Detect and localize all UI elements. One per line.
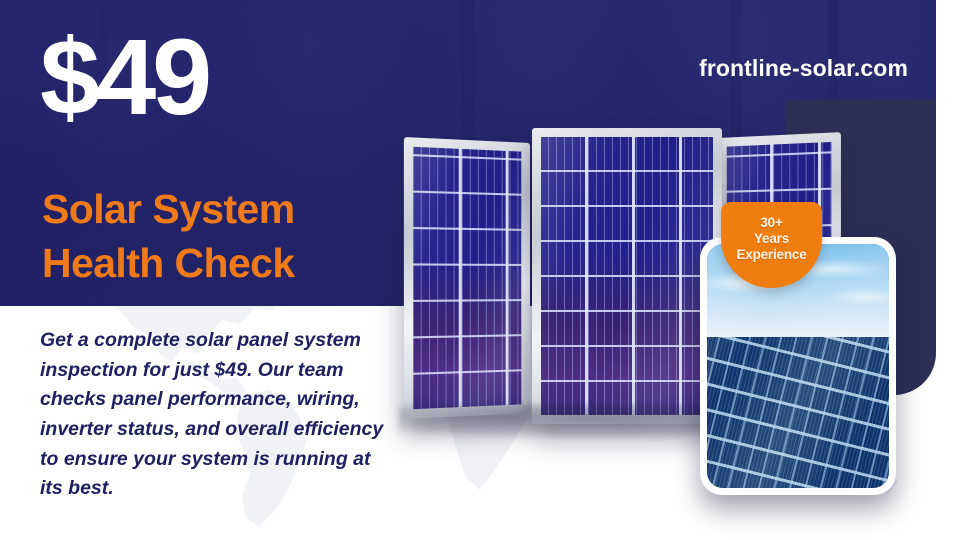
headline-line-1: Solar System — [42, 182, 295, 236]
experience-badge-text: 30+ Years Experience — [736, 215, 806, 275]
headline-line-2: Health Check — [42, 236, 295, 290]
solar-farm-photo — [707, 244, 889, 488]
promo-banner: frontline-solar.com $49 Solar System Hea… — [0, 0, 960, 540]
photo-glint — [707, 244, 889, 488]
website-url[interactable]: frontline-solar.com — [699, 55, 908, 82]
badge-line-2: Years — [736, 231, 806, 247]
badge-line-3: Experience — [736, 247, 806, 263]
badge-line-1: 30+ — [736, 215, 806, 231]
offer-description: Get a complete solar panel system inspec… — [40, 326, 388, 504]
offer-headline: Solar System Health Check — [42, 182, 295, 290]
price-headline: $49 — [40, 22, 208, 132]
